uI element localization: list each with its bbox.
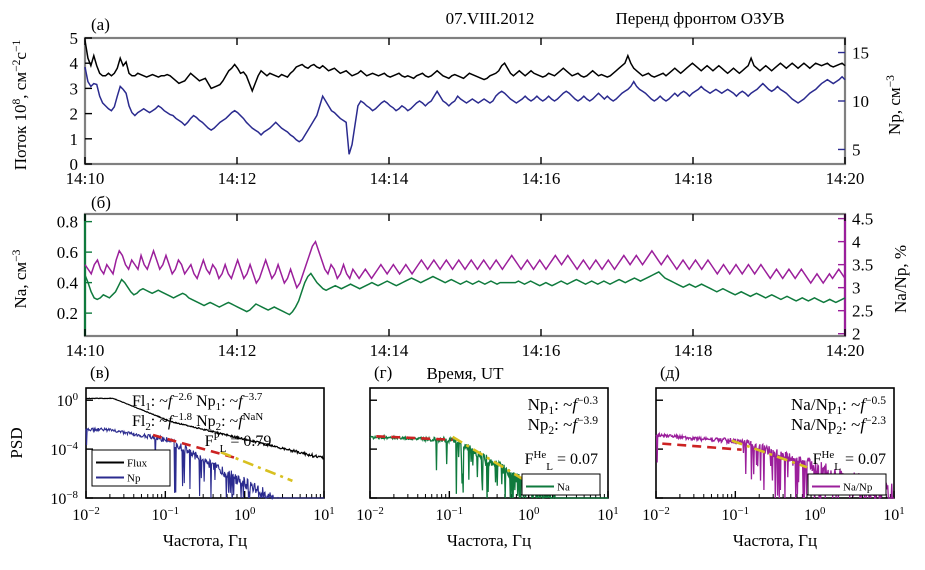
panel-g-xtick: 101 — [597, 505, 618, 524]
panel-v-legend-label: Np — [127, 473, 141, 485]
panel-a-ytick-left: 1 — [70, 130, 79, 149]
panel-v-xtick: 10−1 — [152, 505, 180, 524]
panel-b-xlabel: Время, UT — [426, 364, 504, 383]
panel-a-frame — [85, 38, 845, 164]
figure-root: 0123455101514:1014:1214:1414:1614:1814:2… — [0, 0, 925, 570]
panel-v-id: (в) — [90, 363, 109, 382]
panel-v-ylabel: PSD — [7, 427, 26, 458]
panel-d-xtick: 10−2 — [642, 505, 670, 524]
panel-a-ytick-right: 15 — [852, 44, 869, 63]
panel-g-legend-label: Na — [557, 482, 570, 494]
panel-d-xtick: 10−1 — [722, 505, 750, 524]
panel-g-xlabel: Частота, Гц — [447, 531, 531, 550]
panel-v-xtick: 10−2 — [72, 505, 100, 524]
panel-a-xtick: 14:18 — [674, 169, 713, 188]
panel-d-xlabel: Частота, Гц — [733, 531, 817, 550]
panel-b-ytick-left: 0.2 — [57, 304, 78, 323]
panel-g-xtick: 10−2 — [356, 505, 384, 524]
panel-b: 0.20.40.60.822.533.544.514:1014:1214:141… — [10, 193, 910, 383]
panel-v: 10−210−110010110010−410−8(в)Fl1: ~f−2.6 … — [7, 363, 335, 550]
panel-b-xtick: 14:16 — [522, 341, 561, 360]
panel-v-xtick: 101 — [313, 505, 334, 524]
panel-a-xtick: 14:12 — [218, 169, 257, 188]
panel-g-xtick: 10−1 — [436, 505, 464, 524]
panel-b-ytick-right: 4.5 — [852, 210, 873, 229]
panel-a-ylabel-left: Поток 108, см−2с−1 — [10, 40, 30, 171]
panel-a-ytick-left: 4 — [70, 54, 79, 73]
panel-b-xtick: 14:18 — [674, 341, 713, 360]
panel-v-ytick: 100 — [57, 391, 79, 410]
panel-a-ytick-left: 2 — [70, 105, 79, 124]
panel-a-ytick-right: 10 — [852, 92, 869, 111]
panel-d: 10−210−1100101(д)Na/Np1: ~f−0.5Na/Np2: ~… — [642, 363, 905, 550]
panel-b-xtick: 14:10 — [66, 341, 105, 360]
panel-b-ytick-right: 2.5 — [852, 302, 873, 321]
panel-b-ytick-left: 0.8 — [57, 213, 78, 232]
panel-g: 10−210−1100101(г)Np1: ~f−0.3Np2: ~f−3.9F… — [356, 363, 619, 550]
panel-v-xtick: 100 — [234, 505, 256, 524]
panel-a-id: (а) — [91, 15, 110, 34]
panel-g-xtick: 100 — [518, 505, 540, 524]
panel-a-xtick: 14:20 — [826, 169, 865, 188]
panel-b-ytick-right: 3.5 — [852, 256, 873, 275]
panel-a-ytick-left: 3 — [70, 79, 79, 98]
figure-date-title: 07.VIII.2012 — [446, 9, 535, 28]
panel-d-legend-label: Na/Np — [843, 482, 873, 494]
panel-a-ylabel-right: Np, см−3 — [884, 75, 904, 135]
panel-a-xtick: 14:14 — [370, 169, 409, 188]
panel-b-xtick: 14:14 — [370, 341, 409, 360]
panel-d-id: (д) — [660, 363, 680, 382]
panel-b-ylabel-right: Na/Np, % — [891, 245, 910, 313]
panel-b-xtick: 14:20 — [826, 341, 865, 360]
panel-b-ylabel-left: Na, см−3 — [10, 249, 30, 308]
panel-v-ytick: 10−4 — [50, 440, 78, 459]
panel-v-xlabel: Частота, Гц — [163, 531, 247, 550]
figure-event-title: Перенд фронтом ОЗУВ — [615, 9, 784, 28]
panel-b-id: (б) — [91, 193, 111, 212]
panel-d-xtick: 101 — [883, 505, 904, 524]
panel-v-legend-label: Flux — [127, 458, 148, 470]
panel-a-ytick-right: 5 — [852, 140, 861, 159]
panel-b-ytick-left: 0.6 — [57, 243, 78, 262]
panel-a: 0123455101514:1014:1214:1414:1614:1814:2… — [10, 9, 904, 188]
panel-b-ytick-right: 4 — [852, 233, 861, 252]
panel-g-id: (г) — [374, 363, 392, 382]
figure-canvas: 0123455101514:1014:1214:1414:1614:1814:2… — [0, 0, 925, 570]
panel-b-ytick-left: 0.4 — [57, 274, 79, 293]
panel-b-ytick-right: 3 — [852, 279, 861, 298]
panel-a-xtick: 14:16 — [522, 169, 561, 188]
panel-a-xtick: 14:10 — [66, 169, 105, 188]
panel-b-xtick: 14:12 — [218, 341, 257, 360]
panel-v-ytick: 10−8 — [50, 489, 78, 508]
panel-d-xtick: 100 — [804, 505, 826, 524]
panel-a-ytick-left: 5 — [70, 29, 79, 48]
